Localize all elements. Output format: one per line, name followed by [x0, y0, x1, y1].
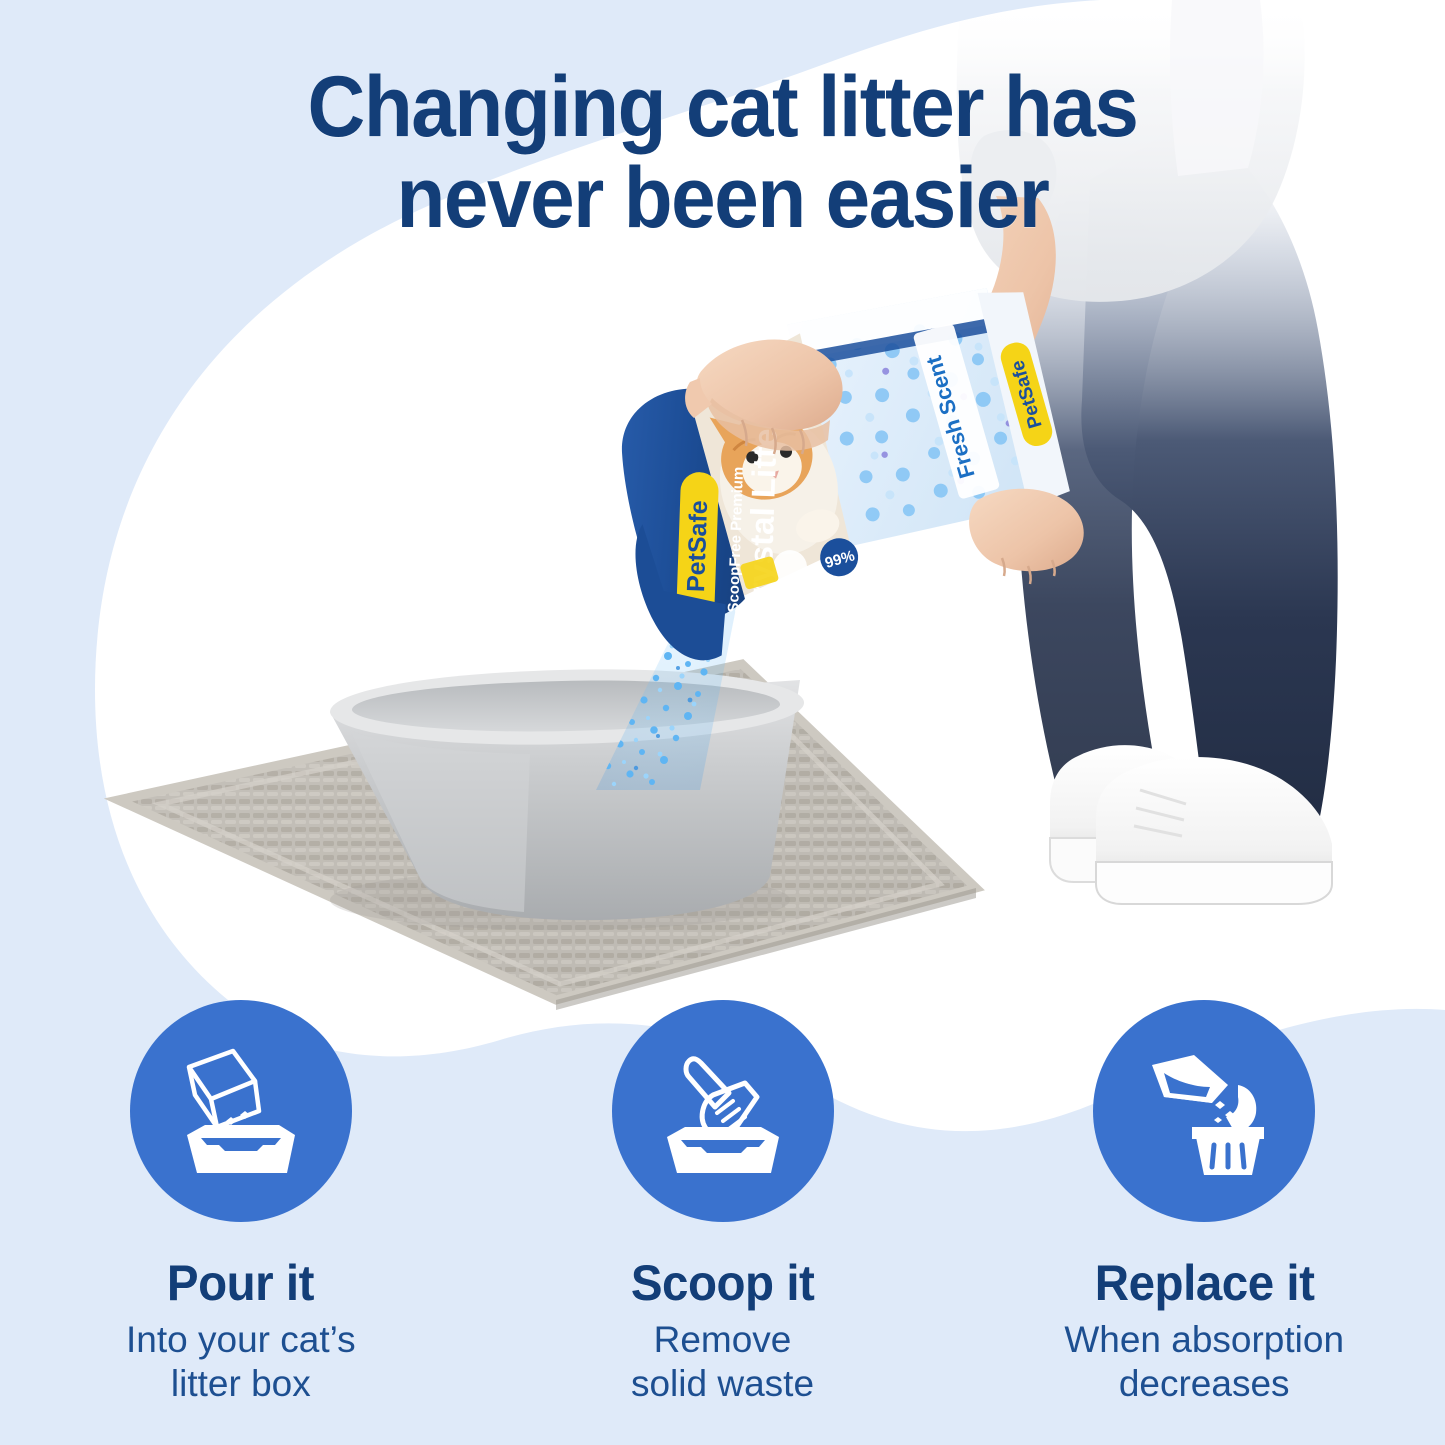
step-scoop-title: Scoop it — [631, 1254, 815, 1312]
step-pour-sub: Into your cat’s litter box — [126, 1318, 356, 1405]
step-pour-sub-line1: Into your cat’s — [126, 1318, 356, 1362]
step-pour-sub-line2: litter box — [126, 1362, 356, 1406]
pour-litter-icon-circle — [130, 1000, 352, 1222]
step-pour: Pour it Into your cat’s litter box — [0, 1000, 482, 1430]
pour-box-rim — [187, 1125, 295, 1135]
step-replace: Replace it When absorption decreases — [963, 1000, 1445, 1430]
step-replace-sub-line2: decreases — [1064, 1362, 1344, 1406]
headline-line-2: never been easier — [51, 153, 1395, 244]
scoop-box-rim — [667, 1127, 779, 1137]
step-scoop-sub-line2: solid waste — [631, 1362, 814, 1406]
trash-lid — [1226, 1085, 1256, 1131]
scoop-litter-icon — [653, 1041, 793, 1181]
scoop-litter-icon-circle — [612, 1000, 834, 1222]
step-replace-sub-line1: When absorption — [1064, 1318, 1344, 1362]
infographic-canvas: Changing cat litter has never been easie… — [0, 0, 1445, 1445]
step-scoop: Scoop it Remove solid waste — [482, 1000, 964, 1430]
step-pour-title: Pour it — [167, 1254, 314, 1312]
page-title: Changing cat litter has never been easie… — [51, 62, 1395, 244]
step-replace-sub: When absorption decreases — [1064, 1318, 1344, 1405]
pour-litter-icon — [171, 1041, 311, 1181]
replace-litter-icon — [1134, 1041, 1274, 1181]
step-scoop-sub-line1: Remove — [631, 1318, 814, 1362]
steps-row: Pour it Into your cat’s litter box — [0, 1000, 1445, 1430]
step-scoop-sub: Remove solid waste — [631, 1318, 814, 1405]
step-replace-title: Replace it — [1094, 1254, 1314, 1312]
replace-litter-icon-circle — [1093, 1000, 1315, 1222]
headline-line-1: Changing cat litter has — [51, 62, 1395, 153]
trash-rim — [1192, 1127, 1264, 1139]
